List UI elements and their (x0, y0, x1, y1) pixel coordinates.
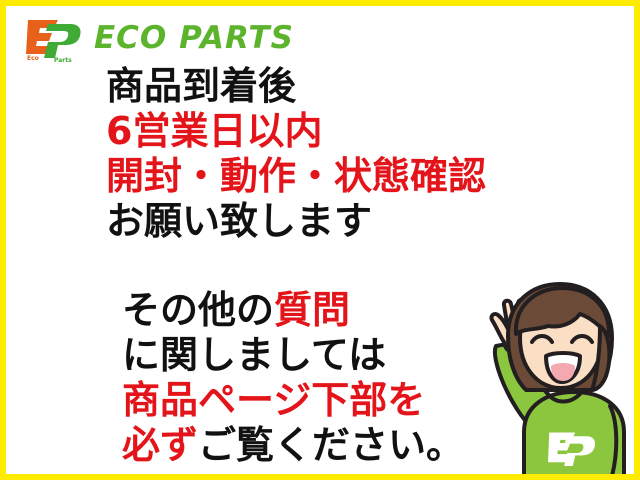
svg-text:Eco: Eco (27, 55, 39, 62)
notice-banner: Eco Parts ECO PARTS 商品到着後 6営業日以内 開封・動作・状… (0, 0, 640, 480)
message-line-5-black: その他の (122, 288, 274, 332)
ep-monogram-icon: Eco Parts (24, 14, 86, 62)
message-line-5-red: 質問 (274, 288, 350, 332)
brand-header: Eco Parts ECO PARTS (24, 14, 294, 62)
message-line-4: お願い致します (106, 199, 566, 244)
message-line-8-black: ご覧ください。 (198, 423, 464, 467)
message-line-8-red: 必ず (122, 423, 198, 467)
banner-canvas: Eco Parts ECO PARTS 商品到着後 6営業日以内 開封・動作・状… (6, 6, 634, 474)
message-line-3: 開封・動作・状態確認 (106, 154, 566, 199)
svg-text:Parts: Parts (54, 57, 72, 62)
waving-staff-illustration (452, 280, 634, 474)
message-line-1: 商品到着後 (106, 64, 566, 109)
brand-wordmark: ECO PARTS (94, 23, 294, 54)
message-line-2: 6営業日以内 (106, 109, 566, 154)
